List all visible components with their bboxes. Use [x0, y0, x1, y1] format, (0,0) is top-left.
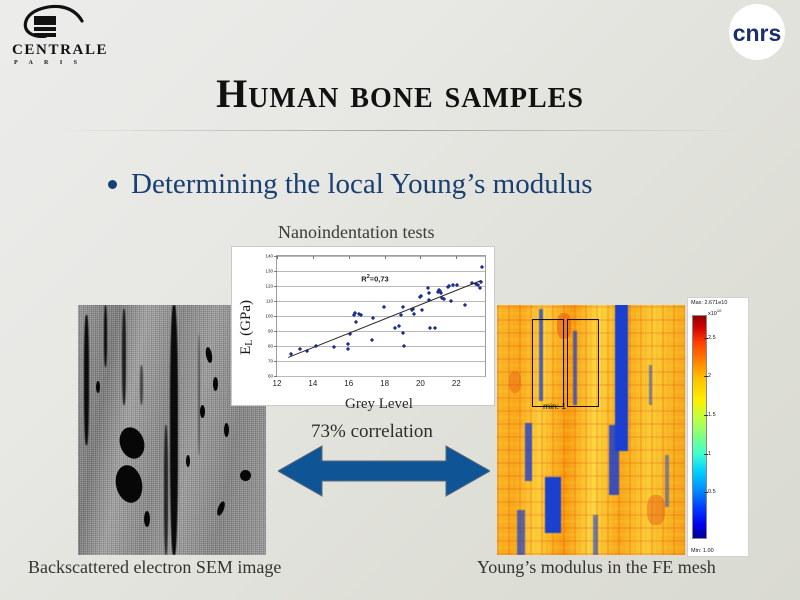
scatter-point [425, 286, 429, 290]
sem-pore [144, 511, 150, 527]
gridline [277, 256, 485, 257]
colorbar-tick-mark [704, 338, 708, 339]
fe-blue-streak [609, 425, 619, 495]
scatter-point [426, 291, 430, 295]
caption-sem: Backscattered electron SEM image [28, 557, 281, 578]
colorbar-tick-label: 2 [708, 373, 711, 379]
colorbar-tick-mark [704, 376, 708, 377]
gridline [277, 361, 485, 362]
scatter-point [419, 293, 423, 297]
scatter-point [382, 305, 386, 309]
x-tick-mark [420, 256, 421, 259]
page-title: Human bone samples [0, 70, 800, 117]
gridline [277, 346, 485, 347]
x-tick-label: 20 [416, 379, 425, 388]
gridline [277, 316, 485, 317]
sem-pore [186, 455, 190, 467]
x-tick-mark [349, 256, 350, 259]
scatter-point [397, 324, 401, 328]
x-tick-mark [313, 256, 314, 259]
sem-streak [198, 335, 200, 455]
fe-blue-streak [525, 423, 532, 481]
sem-pore [224, 423, 229, 437]
x-tick-label: 22 [452, 379, 461, 388]
fe-min-annotation: min: 1 [543, 401, 566, 411]
fe-blue-streak [593, 515, 598, 555]
y-tick-label: 80 [268, 344, 273, 349]
y-tick-label: 100 [265, 314, 273, 319]
sem-pore [213, 377, 218, 391]
sem-streak [84, 315, 89, 445]
fe-region-box [567, 319, 599, 407]
x-tick-mark [277, 256, 278, 259]
fe-blue-streak [649, 365, 652, 405]
scatter-point [477, 286, 481, 290]
scatter-y-axis-label: EL (GPa) [238, 300, 256, 355]
colorbar-gradient [693, 316, 706, 538]
bullet-item: Determining the local Young’s modulus [108, 168, 593, 201]
colorbar-tick-label: 0.5 [708, 489, 716, 495]
y-tick-mark [274, 376, 277, 377]
sem-streak [170, 305, 178, 555]
centrale-logo-subtext: P A R I S [14, 60, 82, 66]
y-tick-label: 60 [268, 374, 273, 379]
x-tick-label: 16 [344, 379, 353, 388]
colorbar-tick-label: 1.5 [708, 412, 716, 418]
scatter-point [371, 316, 375, 320]
y-tick-mark [274, 346, 277, 347]
sem-streak [122, 309, 126, 405]
centrale-mark-icon [10, 4, 100, 44]
nanoindentation-caption: Nanoindentation tests [278, 222, 434, 243]
y-tick-mark [274, 316, 277, 317]
x-tick-mark [385, 256, 386, 259]
y-tick-mark [274, 286, 277, 287]
scatter-point [480, 264, 484, 268]
caption-fe: Young’s modulus in the FE mesh [477, 557, 716, 578]
sem-pore [96, 381, 100, 393]
fe-blue-streak [665, 455, 669, 507]
sem-streak [104, 305, 107, 367]
scatter-point [346, 346, 350, 350]
y-tick-label: 70 [268, 359, 273, 364]
colorbar-tick-mark [704, 454, 708, 455]
fe-region-box [532, 319, 564, 407]
double-arrow-icon [278, 442, 490, 500]
colorbar-exponent-label: x1010 [708, 308, 721, 317]
x-tick-label: 14 [308, 379, 317, 388]
scatter-point [402, 344, 406, 348]
cnrs-logo: cnrs [724, 2, 790, 64]
fe-blue-streak [545, 477, 561, 533]
slide-root: CENTRALE P A R I S cnrs Human bone sampl… [0, 0, 800, 600]
colorbar-tick-mark [704, 415, 708, 416]
gridline [277, 331, 485, 332]
gridline [277, 301, 485, 302]
x-tick-label: 18 [380, 379, 389, 388]
gridline [277, 376, 485, 377]
bullet-label: Determining the local Young’s modulus [131, 168, 593, 201]
y-tick-mark [274, 271, 277, 272]
sem-pore [200, 405, 205, 418]
y-tick-mark [274, 361, 277, 362]
scatter-point [354, 320, 358, 324]
y-tick-label: 90 [268, 329, 273, 334]
scatter-point [400, 305, 404, 309]
scatter-chart-card: 60708090100110120130140 121416182022 R2=… [232, 247, 494, 405]
y-tick-label: 110 [266, 299, 273, 304]
correlation-label: 73% correlation [311, 421, 433, 443]
colorbar-tick-label: 2.5 [708, 335, 716, 341]
colorbar-tick-mark [704, 492, 708, 493]
fe-blue-streak [517, 510, 525, 555]
y-tick-label: 120 [265, 284, 273, 289]
scatter-point [449, 299, 453, 303]
y-tick-label: 140 [265, 254, 273, 259]
scatter-point [420, 307, 424, 311]
colorbar-tick-label: 1 [708, 451, 711, 457]
fe-red-patch [647, 495, 665, 525]
sem-streak [140, 365, 143, 405]
centrale-logo-text: CENTRALE [12, 42, 108, 59]
colorbar-min-label: Min: 1.00 [691, 548, 714, 554]
scatter-x-axis-label: Grey Level [345, 396, 413, 413]
svg-text:cnrs: cnrs [733, 20, 782, 46]
y-tick-mark [274, 331, 277, 332]
x-tick-label: 12 [273, 379, 282, 388]
centrale-paris-logo: CENTRALE P A R I S [10, 4, 100, 70]
cnrs-logo-icon: cnrs [724, 2, 790, 64]
fe-mesh-image: min: 1 [497, 305, 685, 555]
gridline [277, 271, 485, 272]
title-divider [58, 130, 742, 131]
x-tick-mark [456, 256, 457, 259]
scatter-plot-area: 60708090100110120130140 121416182022 R2=… [276, 255, 486, 377]
sem-pore [240, 470, 251, 481]
fe-red-patch [509, 371, 521, 393]
bullet-dot-icon [108, 180, 117, 189]
colorbar-max-label: Max: 2.671e10 [691, 300, 727, 306]
y-tick-mark [274, 301, 277, 302]
scatter-point [463, 303, 467, 307]
scatter-r2-annotation: R2=0,73 [361, 274, 388, 284]
sem-streak [164, 425, 168, 555]
y-tick-label: 130 [265, 269, 273, 274]
scatter-point [370, 338, 374, 342]
colorbar-panel: Max: 2.671e10 x1010 2.521.510.5 Min: 1.0… [688, 298, 748, 556]
scatter-point [433, 325, 437, 329]
scatter-point [428, 326, 432, 330]
